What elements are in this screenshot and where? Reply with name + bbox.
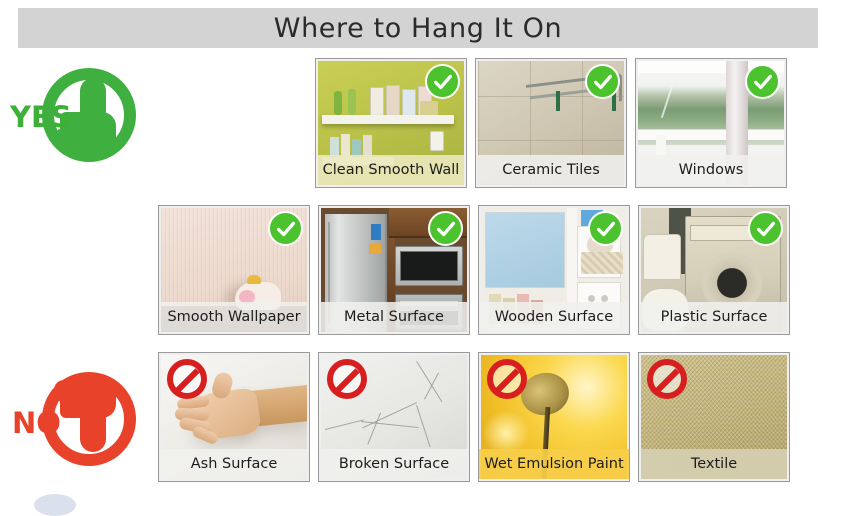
check-circle-icon (585, 64, 620, 99)
verdict-label-yes: YES (10, 100, 72, 134)
page-title: Where to Hang It On (274, 13, 562, 44)
surface-tile[interactable]: Wooden Surface (478, 205, 630, 335)
thumb-digit (80, 404, 106, 452)
surface-tile[interactable]: Textile (638, 352, 790, 482)
tile-label: Clean Smooth Wall (318, 155, 464, 185)
surface-row-forbidden: Ash Surface Broken Surface Wet Emulsion … (158, 352, 790, 482)
surface-tile[interactable]: Wet Emulsion Paint (478, 352, 630, 482)
surface-tile[interactable]: Windows (635, 58, 787, 188)
tile-label: Plastic Surface (641, 302, 787, 332)
check-circle-icon (428, 211, 463, 246)
surface-tile[interactable]: Smooth Wallpaper (158, 205, 310, 335)
surface-row-approved-2: Smooth Wallpaper Metal Surface (158, 205, 790, 335)
surface-tile[interactable]: Ceramic Tiles (475, 58, 627, 188)
thumb-digit (80, 78, 106, 126)
prohibition-icon (167, 359, 207, 399)
check-circle-icon (268, 211, 303, 246)
prohibition-icon (487, 359, 527, 399)
tile-label: Ash Surface (161, 449, 307, 479)
tile-label: Wooden Surface (481, 302, 627, 332)
tile-label: Smooth Wallpaper (161, 302, 307, 332)
surface-tile[interactable]: Plastic Surface (638, 205, 790, 335)
tile-label: Metal Surface (321, 302, 467, 332)
thumbs-down-icon (60, 378, 122, 452)
page-edge-artifact (34, 494, 76, 516)
tile-label: Broken Surface (321, 449, 467, 479)
surface-tile[interactable]: Ash Surface (158, 352, 310, 482)
thumb-cuff (54, 380, 80, 402)
surface-tile[interactable]: Broken Surface (318, 352, 470, 482)
check-circle-icon (748, 211, 783, 246)
prohibition-icon (327, 359, 367, 399)
check-circle-icon (425, 64, 460, 99)
verdict-label-no: NO (12, 406, 61, 440)
check-circle-icon (745, 64, 780, 99)
page-title-bar: Where to Hang It On (18, 8, 818, 48)
tile-label: Wet Emulsion Paint (478, 449, 630, 479)
check-circle-icon (588, 211, 623, 246)
prohibition-icon (647, 359, 687, 399)
surface-tile[interactable]: Clean Smooth Wall (315, 58, 467, 188)
tile-label: Textile (641, 449, 787, 479)
tile-label: Windows (638, 155, 784, 185)
verdict-badge-no: NO (0, 366, 150, 476)
surface-row-approved-1: Clean Smooth Wall Ceramic Tiles (315, 58, 787, 188)
tile-label: Ceramic Tiles (478, 155, 624, 185)
verdict-badge-yes: YES (0, 62, 150, 172)
surface-tile[interactable]: Metal Surface (318, 205, 470, 335)
